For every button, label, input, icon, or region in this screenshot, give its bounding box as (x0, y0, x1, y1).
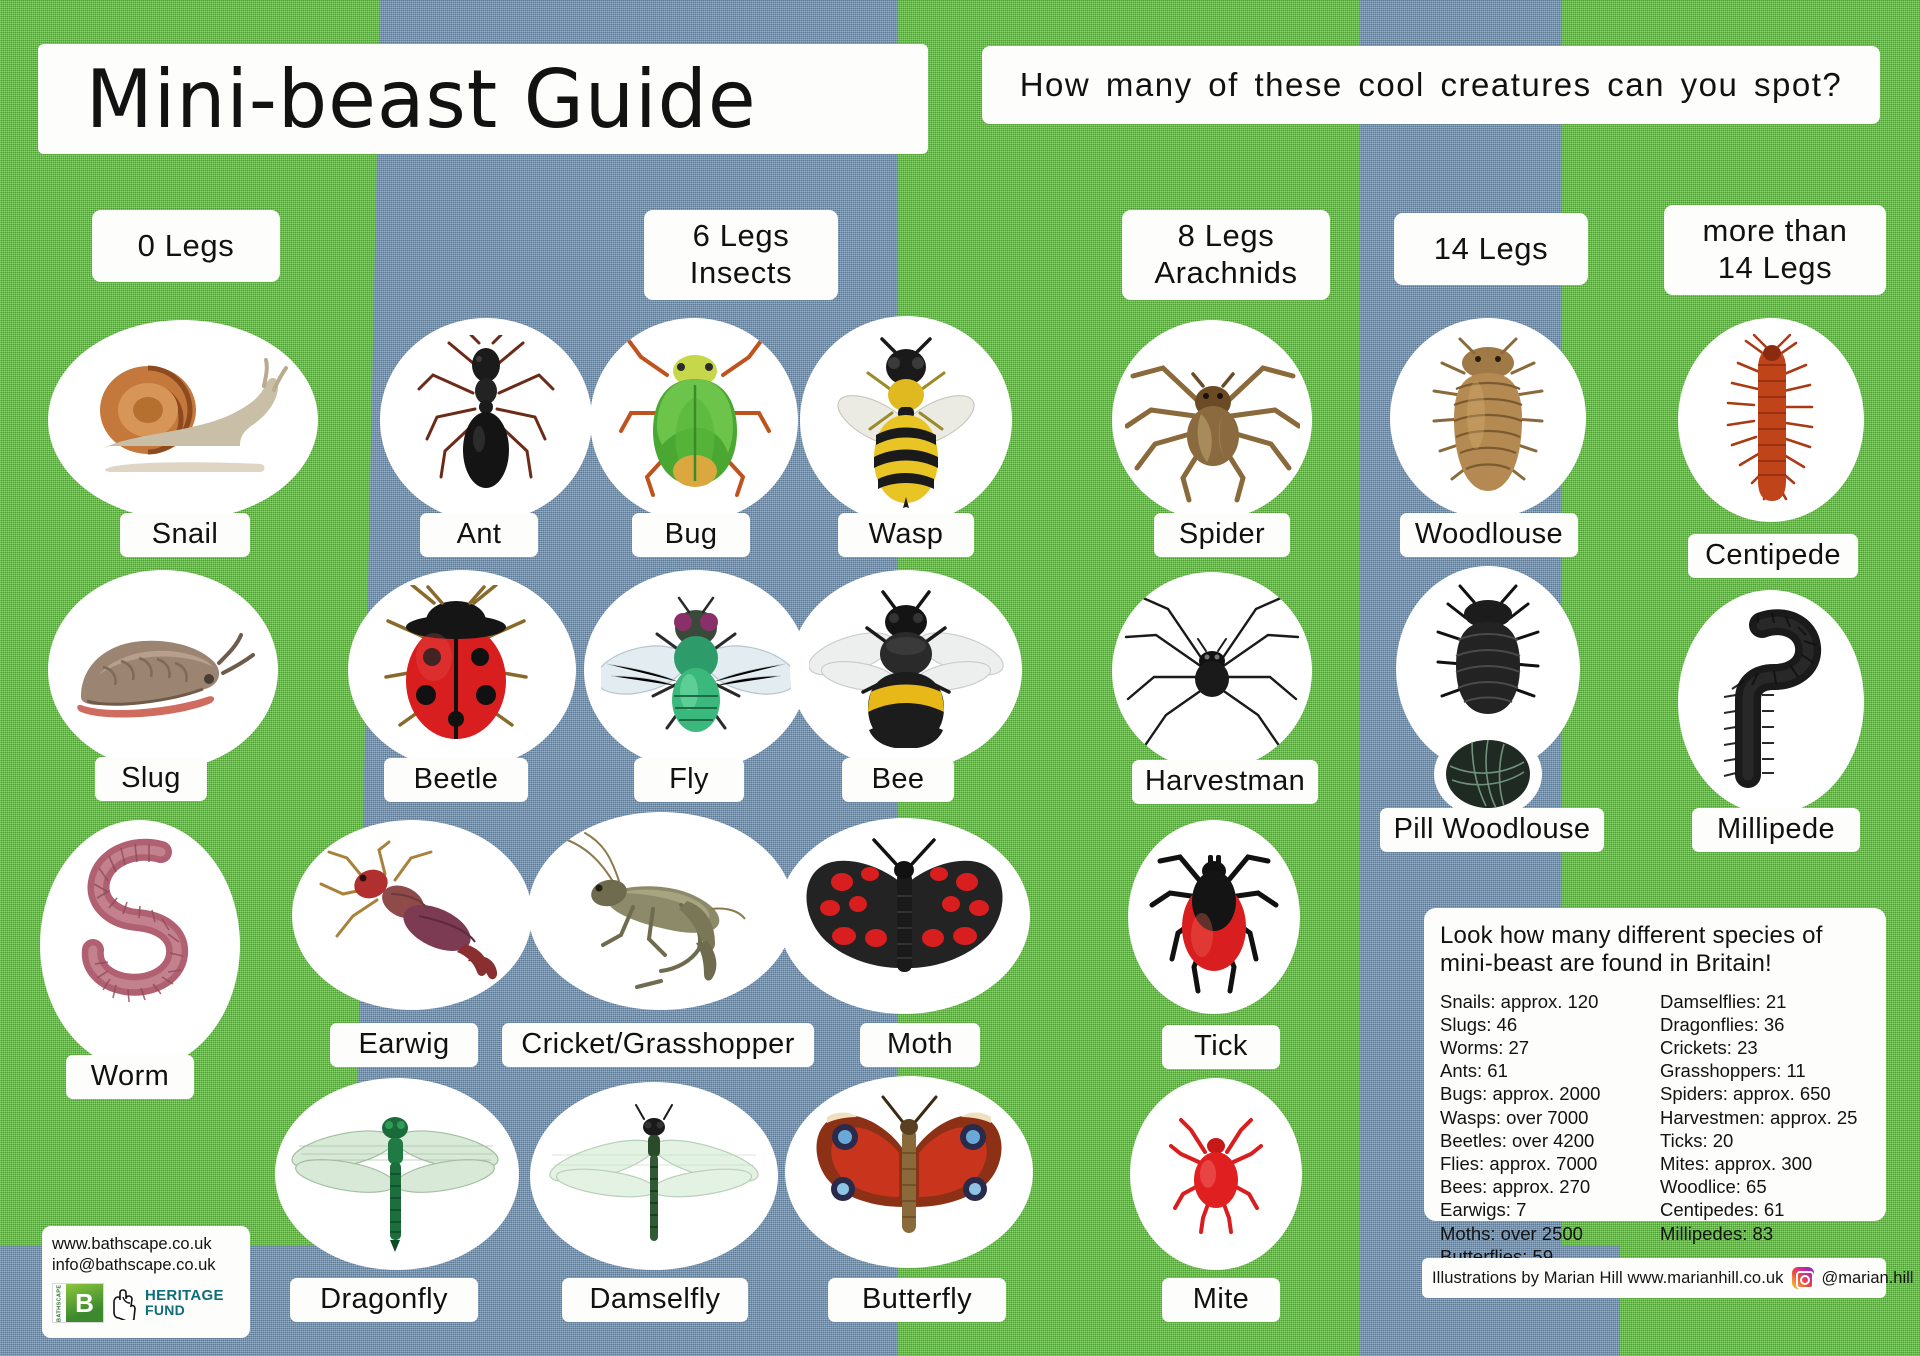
species-fact: Ants: 61 (1440, 1059, 1640, 1082)
creature-name: Centipede (1705, 539, 1841, 572)
column-header-more-than-fourteen-legs: more than 14 Legs (1664, 205, 1886, 295)
creature-name: Damselfly (590, 1283, 721, 1316)
heritage-fund-wordmark: HERITAGE FUND (145, 1288, 224, 1317)
creature-name: Harvestman (1145, 765, 1305, 798)
creature-oval-slug[interactable] (48, 570, 278, 770)
species-fact: Harvestmen: approx. 25 (1660, 1106, 1857, 1129)
creature-oval-damselfly[interactable] (530, 1082, 778, 1270)
species-fact: Slugs: 46 (1440, 1013, 1640, 1036)
column-header-six-legs: 6 Legs Insects (644, 210, 838, 300)
creature-label-centipede: Centipede (1688, 534, 1858, 578)
creature-name: Earwig (358, 1028, 449, 1061)
creature-label-worm: Worm (66, 1055, 194, 1099)
illustration-credit-bar: Illustrations by Marian Hill www.marianh… (1422, 1258, 1886, 1298)
creature-name: Snail (152, 518, 219, 551)
dragonfly-illustration (275, 1078, 519, 1270)
creature-oval-bug[interactable] (590, 318, 798, 522)
species-fact: Spiders: approx. 650 (1660, 1082, 1857, 1105)
creature-name: Butterfly (862, 1283, 972, 1316)
species-fact: Ticks: 20 (1660, 1129, 1857, 1152)
creature-oval-cricket[interactable] (528, 812, 794, 1010)
creature-name: Millipede (1717, 813, 1835, 846)
creature-name: Tick (1194, 1030, 1248, 1063)
creature-label-fly: Fly (634, 758, 744, 802)
creature-oval-snail[interactable] (48, 320, 318, 520)
fly-illustration (584, 570, 808, 770)
creature-label-damselfly: Damselfly (562, 1278, 748, 1322)
instagram-icon[interactable] (1792, 1267, 1814, 1289)
creature-oval-fly[interactable] (584, 570, 808, 770)
creature-label-ant: Ant (420, 513, 538, 557)
snail-illustration (48, 320, 318, 520)
creature-label-mite: Mite (1162, 1278, 1280, 1322)
earwig-illustration (292, 820, 532, 1010)
creature-oval-dragonfly[interactable] (275, 1078, 519, 1270)
creature-name: Wasp (869, 518, 944, 551)
column-header-eight-legs: 8 Legs Arachnids (1122, 210, 1330, 300)
creature-label-millipede: Millipede (1692, 808, 1860, 852)
creature-oval-spider[interactable] (1112, 320, 1312, 520)
ant-illustration (380, 318, 592, 522)
species-facts-column-b: Damselflies: 21 Dragonflies: 36 Crickets… (1660, 990, 1857, 1268)
creature-name: Bee (872, 763, 925, 796)
creature-label-slug: Slug (95, 757, 207, 801)
tick-illustration (1128, 820, 1300, 1014)
creature-oval-butterfly[interactable] (785, 1076, 1033, 1268)
creature-label-moth: Moth (860, 1023, 980, 1067)
damselfly-illustration (530, 1082, 778, 1270)
creature-oval-worm[interactable] (40, 820, 240, 1070)
bathscape-contact: www.bathscape.co.uk info@bathscape.co.uk (52, 1234, 240, 1277)
instagram-handle[interactable]: @marian.hill (1822, 1269, 1914, 1288)
species-fact: Moths: over 2500 (1440, 1222, 1640, 1245)
creature-label-wasp: Wasp (838, 513, 974, 557)
species-fact: Grasshoppers: 11 (1660, 1059, 1857, 1082)
species-facts-panel: Look how many different species of mini-… (1424, 908, 1886, 1221)
slug-illustration (48, 570, 278, 770)
mite-illustration (1130, 1078, 1302, 1270)
creature-name: Ant (457, 518, 502, 551)
creature-name: Slug (121, 762, 181, 795)
species-fact: Worms: 27 (1440, 1036, 1640, 1059)
moth-illustration (778, 818, 1030, 1014)
creature-oval-ant[interactable] (380, 318, 592, 522)
creature-label-bug: Bug (632, 513, 750, 557)
creature-name: Dragonfly (320, 1283, 448, 1316)
creature-oval-wasp[interactable] (800, 316, 1012, 524)
creature-label-dragonfly: Dragonfly (290, 1278, 478, 1322)
creature-name: Fly (669, 763, 709, 796)
creature-name: Mite (1193, 1283, 1249, 1316)
species-fact: Millipedes: 83 (1660, 1222, 1857, 1245)
crossed-fingers-icon (111, 1286, 141, 1320)
heritage-line-2: FUND (145, 1303, 224, 1317)
creature-oval-millipede[interactable] (1678, 590, 1864, 814)
creature-label-bee: Bee (842, 758, 954, 802)
footer-logo-row: BATHSCAPE B HERITAGE FUND (52, 1283, 240, 1323)
species-fact: Woodlice: 65 (1660, 1175, 1857, 1198)
bathscape-email[interactable]: info@bathscape.co.uk (52, 1255, 240, 1276)
species-fact: Dragonflies: 36 (1660, 1013, 1857, 1036)
bathscape-logo-letter: B (66, 1284, 103, 1322)
bathscape-footer: www.bathscape.co.uk info@bathscape.co.uk… (42, 1226, 250, 1338)
column-header-label: 0 Legs (138, 228, 235, 265)
species-facts-title: Look how many different species of mini-… (1440, 922, 1870, 979)
creature-oval-mite[interactable] (1130, 1078, 1302, 1270)
creature-label-beetle: Beetle (384, 758, 528, 802)
creature-label-butterfly: Butterfly (828, 1278, 1006, 1322)
column-header-zero-legs: 0 Legs (92, 210, 280, 282)
creature-oval-earwig[interactable] (292, 820, 532, 1010)
species-fact: Crickets: 23 (1660, 1036, 1857, 1059)
column-header-label: 14 Legs (1434, 231, 1549, 268)
wasp-illustration (800, 316, 1012, 524)
spider-illustration (1112, 320, 1312, 520)
creature-name: Worm (91, 1060, 169, 1093)
creature-label-woodlouse: Woodlouse (1400, 513, 1578, 557)
species-fact: Mites: approx. 300 (1660, 1152, 1857, 1175)
subtitle-banner: How many of these cool creatures can you… (982, 46, 1880, 124)
species-fact: Wasps: over 7000 (1440, 1106, 1640, 1129)
creature-oval-harvestman[interactable] (1112, 572, 1312, 770)
creature-oval-bee[interactable] (790, 570, 1022, 770)
bathscape-logo-word: BATHSCAPE (53, 1284, 66, 1322)
woodlouse-illustration (1390, 318, 1586, 518)
page-title-text: Mini-beast Guide (49, 53, 757, 146)
species-fact: Snails: approx. 120 (1440, 990, 1640, 1013)
species-fact: Bugs: approx. 2000 (1440, 1082, 1640, 1105)
creature-name: Woodlouse (1415, 518, 1563, 551)
creature-label-pill-woodlouse: Pill Woodlouse (1380, 808, 1604, 852)
poster-canvas: Mini-beast Guide How many of these cool … (0, 0, 1920, 1356)
harvestman-illustration (1112, 572, 1312, 770)
column-header-label: 6 Legs Insects (690, 218, 792, 291)
creature-label-spider: Spider (1154, 513, 1290, 557)
subtitle-text: How many of these cool creatures can you… (1020, 66, 1843, 104)
creature-label-cricket: Cricket/Grasshopper (502, 1023, 814, 1067)
column-header-label: more than 14 Legs (1703, 213, 1848, 286)
creature-name: Pill Woodlouse (1394, 813, 1591, 846)
species-fact: Beetles: over 4200 (1440, 1129, 1640, 1152)
cricket-illustration (528, 812, 794, 1010)
creature-label-harvestman: Harvestman (1132, 760, 1318, 804)
creature-name: Bug (665, 518, 718, 551)
centipede-illustration (1678, 318, 1864, 522)
bee-illustration (790, 570, 1022, 770)
creature-oval-beetle[interactable] (348, 570, 576, 770)
creature-label-snail: Snail (120, 513, 250, 557)
creature-name: Cricket/Grasshopper (521, 1028, 795, 1061)
butterfly-illustration (785, 1076, 1033, 1268)
species-fact: Damselflies: 21 (1660, 990, 1857, 1013)
species-fact: Earwigs: 7 (1440, 1198, 1640, 1221)
column-header-fourteen-legs: 14 Legs (1394, 213, 1588, 285)
creature-label-tick: Tick (1162, 1025, 1280, 1069)
bug-illustration (590, 318, 798, 522)
beetle-illustration (348, 570, 576, 770)
bathscape-website[interactable]: www.bathscape.co.uk (52, 1234, 240, 1255)
species-facts-columns: Snails: approx. 120 Slugs: 46 Worms: 27 … (1440, 990, 1870, 1268)
creature-oval-centipede[interactable] (1678, 318, 1864, 522)
creature-label-earwig: Earwig (330, 1023, 478, 1067)
species-fact: Flies: approx. 7000 (1440, 1152, 1640, 1175)
creature-oval-pill-woodlouse-rolled[interactable] (1434, 730, 1542, 818)
creature-name: Beetle (414, 763, 499, 796)
creature-oval-woodlouse[interactable] (1390, 318, 1586, 518)
creature-oval-tick[interactable] (1128, 820, 1300, 1014)
millipede-illustration (1678, 590, 1864, 814)
worm-illustration (40, 820, 240, 1070)
heritage-fund-logo: HERITAGE FUND (111, 1286, 224, 1320)
species-fact: Bees: approx. 270 (1440, 1175, 1640, 1198)
species-fact: Centipedes: 61 (1660, 1198, 1857, 1221)
illustration-credit-text: Illustrations by Marian Hill www.marianh… (1432, 1269, 1784, 1288)
creature-name: Moth (887, 1028, 953, 1061)
creature-name: Spider (1179, 518, 1265, 551)
species-facts-column-a: Snails: approx. 120 Slugs: 46 Worms: 27 … (1440, 990, 1640, 1268)
column-header-label: 8 Legs Arachnids (1154, 218, 1297, 291)
bathscape-logo: BATHSCAPE B (52, 1283, 104, 1323)
page-title: Mini-beast Guide (38, 44, 928, 154)
creature-oval-moth[interactable] (778, 818, 1030, 1014)
heritage-line-1: HERITAGE (145, 1288, 224, 1303)
pill-woodlouse-rolled-illustration (1434, 730, 1542, 818)
